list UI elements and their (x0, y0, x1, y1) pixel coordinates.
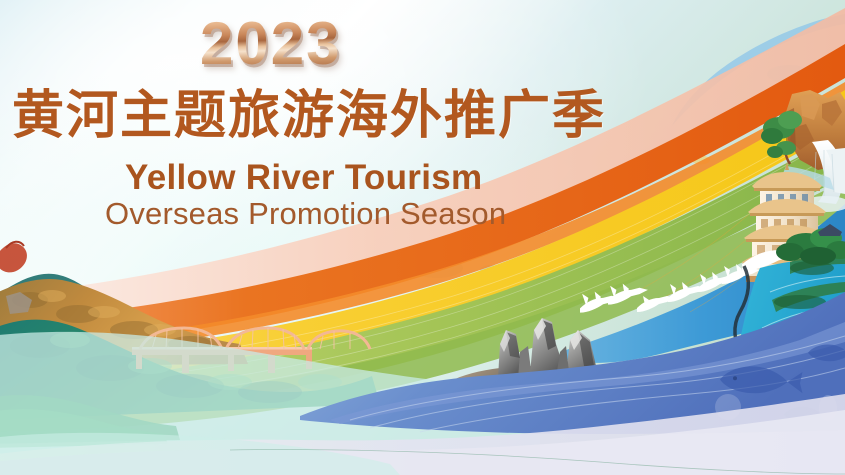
english-subtitle: Overseas Promotion Season (105, 198, 506, 229)
english-title: Yellow River Tourism (125, 160, 482, 195)
year-numerals: 2023 (200, 14, 341, 74)
poster-text-block: 2023 黄河主题旅游海外推广季 Yellow River Tourism Ov… (0, 0, 600, 250)
chinese-title: 黄河主题旅游海外推广季 (12, 88, 606, 144)
poster-canvas: 2023 黄河主题旅游海外推广季 Yellow River Tourism Ov… (0, 0, 845, 475)
